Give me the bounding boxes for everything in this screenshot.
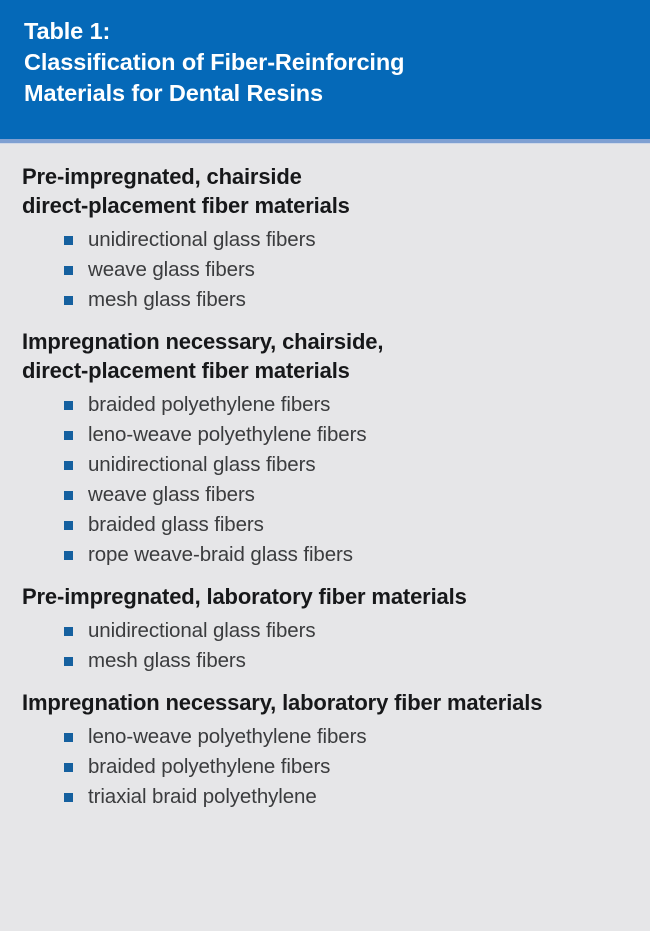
square-bullet-icon (64, 401, 73, 410)
list-item: weave glass fibers (64, 255, 628, 285)
square-bullet-icon (64, 266, 73, 275)
section-item-list: leno-weave polyethylene fibers braided p… (22, 722, 628, 812)
section-heading: Impregnation necessary, laboratory fiber… (22, 688, 628, 717)
section-heading: Pre-impregnated, laboratory fiber materi… (22, 582, 628, 611)
list-item: triaxial braid polyethylene (64, 782, 628, 812)
list-item-label: unidirectional glass fibers (88, 453, 315, 476)
list-item-label: leno-weave polyethylene fibers (88, 423, 366, 446)
square-bullet-icon (64, 657, 73, 666)
table-card: Table 1: Classification of Fiber-Reinfor… (0, 0, 650, 931)
list-item: unidirectional glass fibers (64, 616, 628, 646)
list-item: mesh glass fibers (64, 285, 628, 315)
section-pre-impregnated-laboratory: Pre-impregnated, laboratory fiber materi… (22, 582, 628, 676)
section-heading-line: Impregnation necessary, chairside, (22, 327, 628, 356)
list-item: braided glass fibers (64, 510, 628, 540)
square-bullet-icon (64, 793, 73, 802)
list-item-label: leno-weave polyethylene fibers (88, 725, 366, 748)
list-item: unidirectional glass fibers (64, 450, 628, 480)
list-item-label: braided polyethylene fibers (88, 755, 330, 778)
section-heading: Pre-impregnated, chairside direct-placem… (22, 162, 628, 220)
list-item: weave glass fibers (64, 480, 628, 510)
section-pre-impregnated-chairside: Pre-impregnated, chairside direct-placem… (22, 162, 628, 315)
square-bullet-icon (64, 733, 73, 742)
square-bullet-icon (64, 236, 73, 245)
list-item-label: mesh glass fibers (88, 649, 246, 672)
square-bullet-icon (64, 461, 73, 470)
list-item-label: triaxial braid polyethylene (88, 785, 317, 808)
table-title-line: Materials for Dental Resins (24, 78, 626, 109)
list-item: leno-weave polyethylene fibers (64, 722, 628, 752)
list-item-label: weave glass fibers (88, 483, 255, 506)
list-item-label: unidirectional glass fibers (88, 228, 315, 251)
list-item-label: braided polyethylene fibers (88, 393, 330, 416)
section-item-list: unidirectional glass fibers weave glass … (22, 225, 628, 315)
section-heading-line: Impregnation necessary, laboratory fiber… (22, 688, 628, 717)
square-bullet-icon (64, 521, 73, 530)
table-title-line: Classification of Fiber-Reinforcing (24, 47, 626, 78)
list-item: mesh glass fibers (64, 646, 628, 676)
list-item: braided polyethylene fibers (64, 752, 628, 782)
table-header: Table 1: Classification of Fiber-Reinfor… (0, 0, 650, 139)
square-bullet-icon (64, 431, 73, 440)
list-item-label: unidirectional glass fibers (88, 619, 315, 642)
table-title: Table 1: Classification of Fiber-Reinfor… (24, 16, 626, 109)
square-bullet-icon (64, 491, 73, 500)
section-item-list: unidirectional glass fibers mesh glass f… (22, 616, 628, 676)
list-item-label: mesh glass fibers (88, 288, 246, 311)
section-heading-line: Pre-impregnated, chairside (22, 162, 628, 191)
section-item-list: braided polyethylene fibers leno-weave p… (22, 390, 628, 570)
square-bullet-icon (64, 627, 73, 636)
list-item-label: rope weave-braid glass fibers (88, 543, 353, 566)
square-bullet-icon (64, 551, 73, 560)
section-heading-line: direct-placement fiber materials (22, 356, 628, 385)
list-item: rope weave-braid glass fibers (64, 540, 628, 570)
list-item: braided polyethylene fibers (64, 390, 628, 420)
list-item: unidirectional glass fibers (64, 225, 628, 255)
square-bullet-icon (64, 296, 73, 305)
section-heading: Impregnation necessary, chairside, direc… (22, 327, 628, 385)
list-item: leno-weave polyethylene fibers (64, 420, 628, 450)
table-body: Pre-impregnated, chairside direct-placem… (0, 144, 650, 931)
square-bullet-icon (64, 763, 73, 772)
list-item-label: weave glass fibers (88, 258, 255, 281)
section-impregnation-necessary-laboratory: Impregnation necessary, laboratory fiber… (22, 688, 628, 812)
section-impregnation-necessary-chairside: Impregnation necessary, chairside, direc… (22, 327, 628, 570)
table-title-line: Table 1: (24, 16, 626, 47)
list-item-label: braided glass fibers (88, 513, 264, 536)
section-heading-line: direct-placement fiber materials (22, 191, 628, 220)
section-heading-line: Pre-impregnated, laboratory fiber materi… (22, 582, 628, 611)
